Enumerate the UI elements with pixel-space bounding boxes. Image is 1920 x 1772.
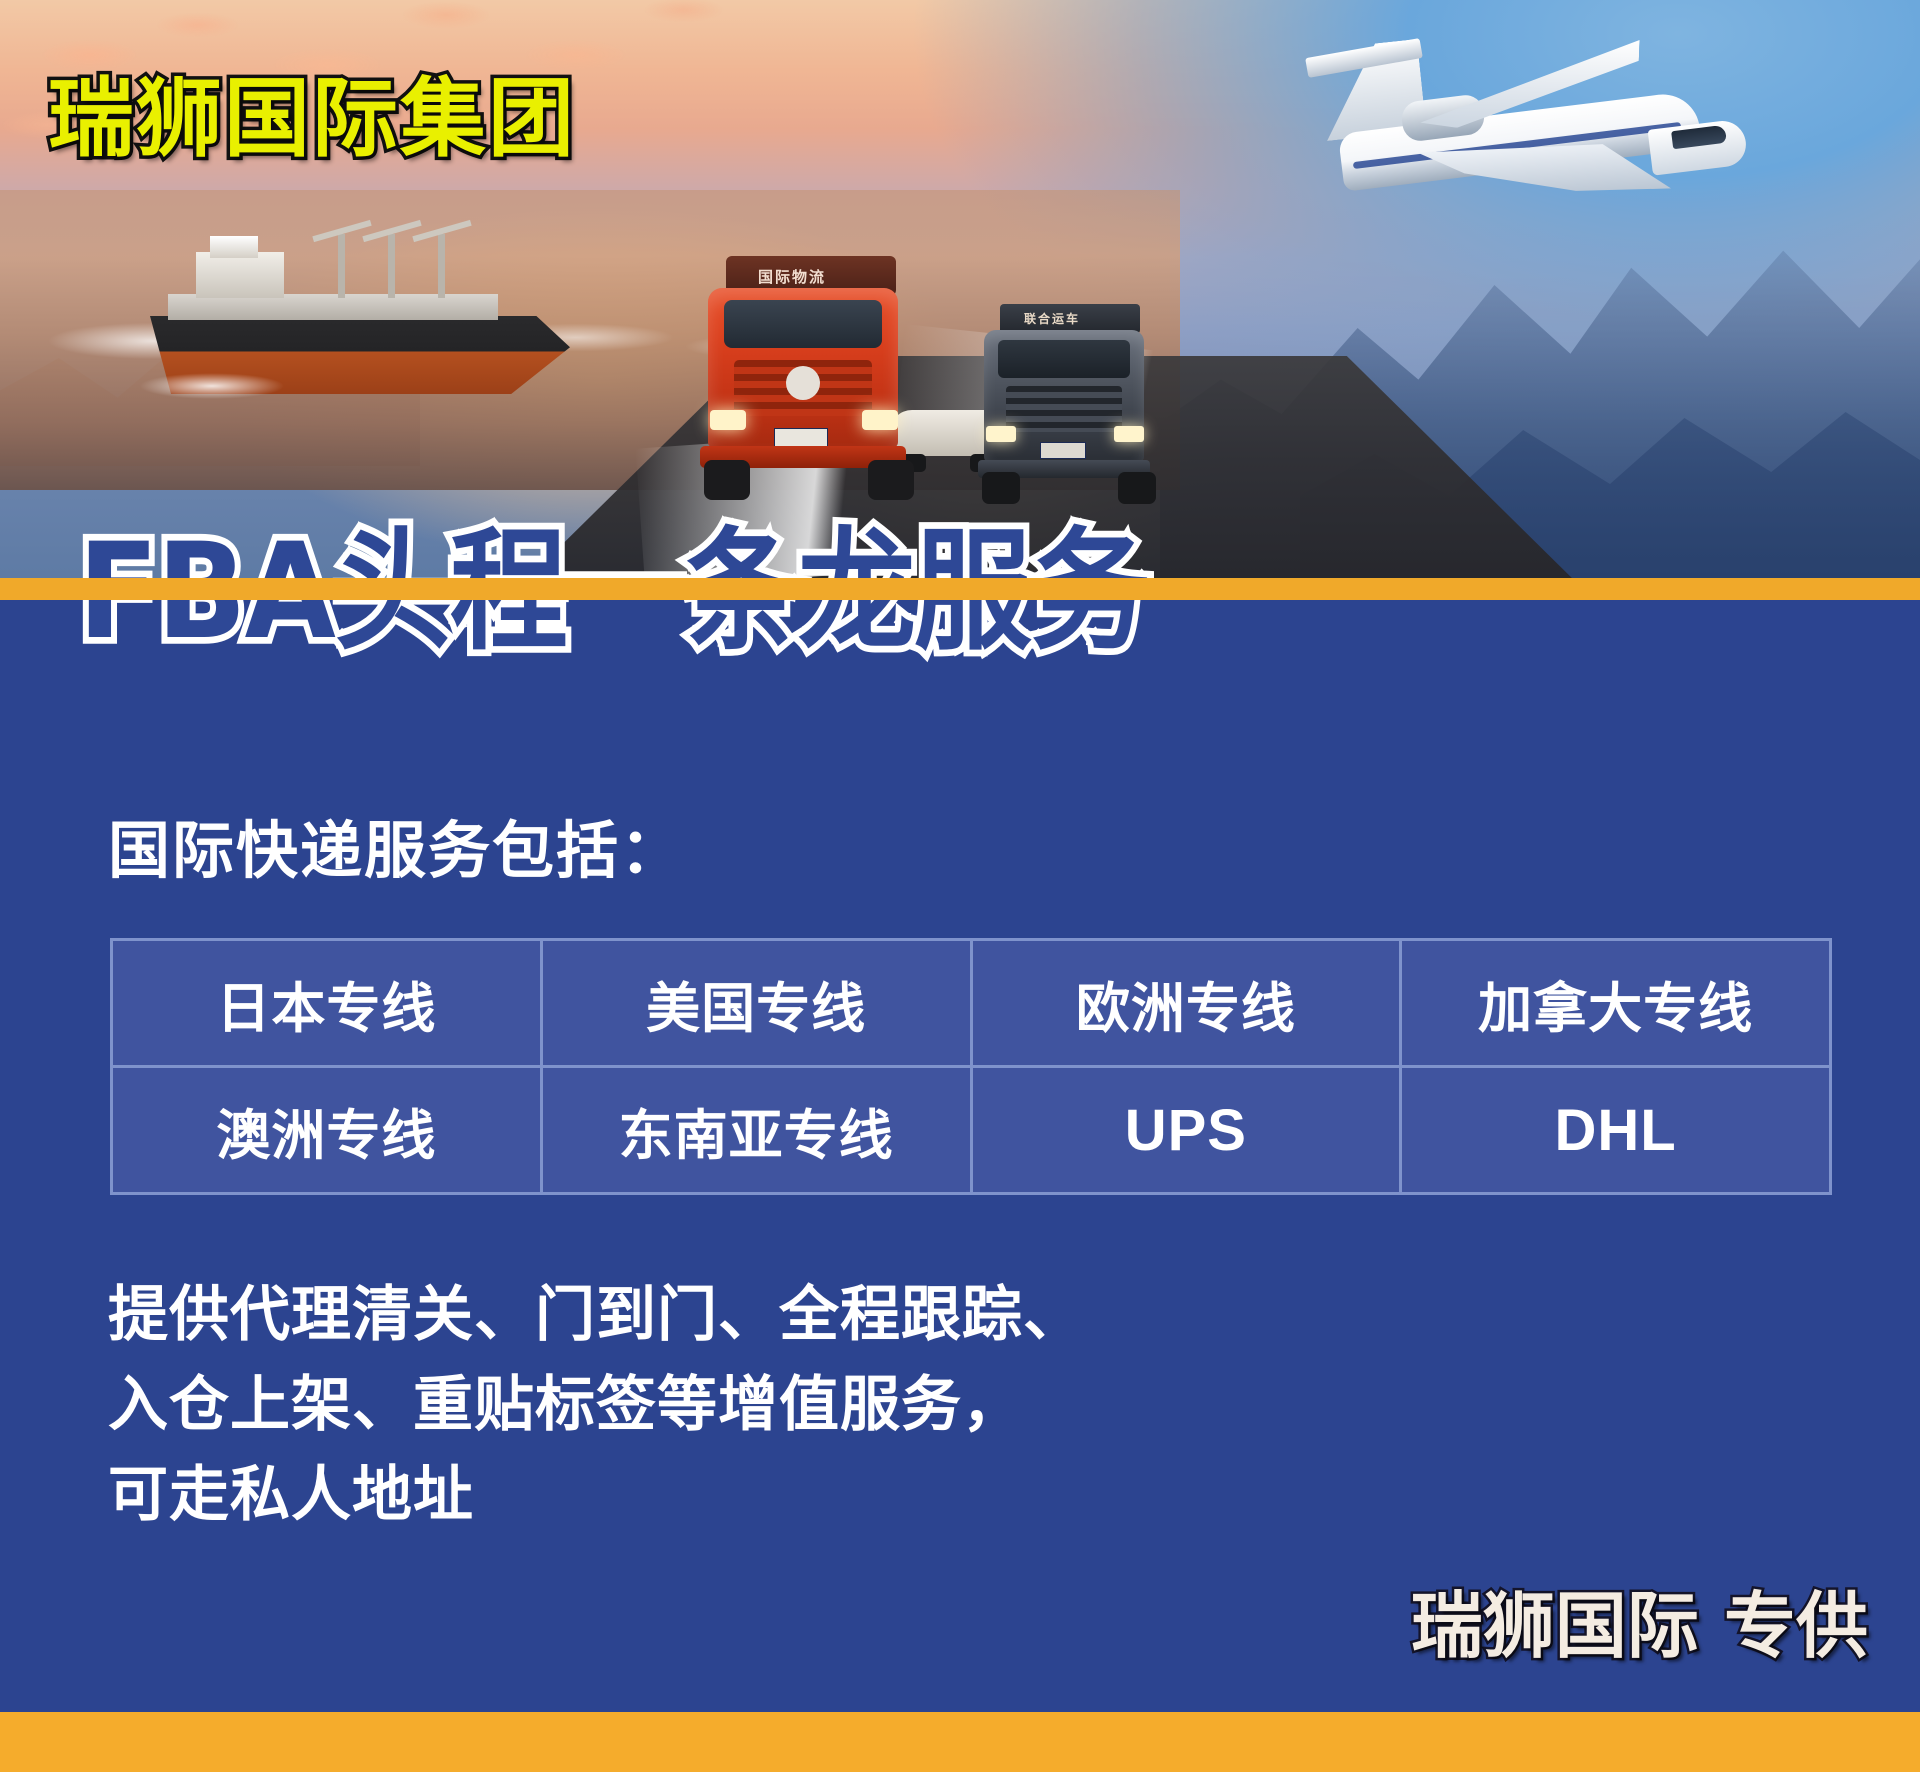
- red-truck-headlight: [710, 410, 746, 430]
- red-truck-icon: 国际物流: [690, 278, 930, 508]
- value-added-services-text: 提供代理清关、门到门、全程跟踪、 入仓上架、重贴标签等增值服务， 可走私人地址: [108, 1270, 1084, 1540]
- table-row: 日本专线 美国专线 欧洲专线 加拿大专线: [112, 940, 1831, 1067]
- service-cell-australia[interactable]: 澳洲专线: [112, 1067, 542, 1194]
- red-truck-headlight: [862, 410, 898, 430]
- service-cell-canada[interactable]: 加拿大专线: [1401, 940, 1831, 1067]
- fba-logistics-poster: 联合运车 国际物流: [0, 0, 1920, 1772]
- service-cell-southeastasia[interactable]: 东南亚专线: [541, 1067, 971, 1194]
- red-truck-wheel: [868, 460, 914, 500]
- ship-cabin: [196, 252, 284, 298]
- body-line-3: 可走私人地址: [108, 1450, 1084, 1540]
- grey-truck-icon: 联合运车: [970, 320, 1170, 510]
- grey-truck-banner-text: 联合运车: [1024, 310, 1080, 327]
- private-jet-icon: [1290, 40, 1740, 250]
- grey-truck-wheel: [982, 472, 1020, 504]
- grey-truck-wheel: [1118, 472, 1156, 504]
- body-line-2: 入仓上架、重贴标签等增值服务，: [108, 1360, 1084, 1450]
- grey-truck-grille: [1006, 386, 1122, 432]
- ship-crane-icon: [388, 234, 395, 298]
- grey-truck-headlight: [1114, 426, 1144, 442]
- gold-divider: [0, 578, 1920, 600]
- grey-truck-headlight: [986, 426, 1016, 442]
- service-cell-dhl[interactable]: DHL: [1401, 1067, 1831, 1194]
- service-cell-ups[interactable]: UPS: [971, 1067, 1401, 1194]
- services-heading: 国际快递服务包括：: [108, 800, 684, 890]
- red-truck-wheel: [704, 460, 750, 500]
- service-cell-japan[interactable]: 日本专线: [112, 940, 542, 1067]
- ship-bow-wave: [132, 366, 332, 406]
- services-table: 日本专线 美国专线 欧洲专线 加拿大专线 澳洲专线 东南亚专线 UPS DHL: [110, 938, 1832, 1195]
- table-row: 澳洲专线 东南亚专线 UPS DHL: [112, 1067, 1831, 1194]
- grey-truck-license-plate: [1040, 442, 1086, 459]
- brand-signature: 瑞狮国际 专供: [1411, 1590, 1868, 1662]
- body-line-1: 提供代理清关、门到门、全程跟踪、: [108, 1270, 1084, 1360]
- grey-truck-windshield: [998, 340, 1130, 378]
- red-truck-emblem: [786, 366, 820, 400]
- bottom-gold-strip: [0, 1712, 1920, 1772]
- ship-bridge: [210, 236, 258, 258]
- company-logo-text: 瑞狮国际集团: [48, 76, 576, 162]
- service-cell-usa[interactable]: 美国专线: [541, 940, 971, 1067]
- ship-crane-icon: [438, 234, 445, 298]
- red-truck-box-text: 国际物流: [758, 266, 826, 287]
- ship-crane-icon: [338, 234, 345, 298]
- red-truck-windshield: [724, 300, 882, 348]
- service-cell-europe[interactable]: 欧洲专线: [971, 940, 1401, 1067]
- red-truck-license-plate: [774, 428, 828, 448]
- cargo-ship-icon: [150, 228, 570, 408]
